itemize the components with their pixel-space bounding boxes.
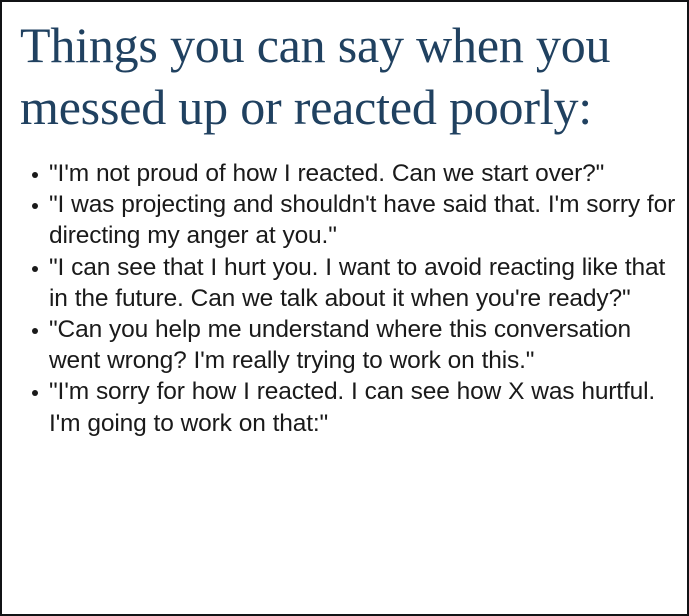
list-item-text: "I'm sorry for how I reacted. I can see … — [49, 376, 681, 438]
card-content: Things you can say when you messed up or… — [2, 2, 687, 439]
list-item-text: "I'm not proud of how I reacted. Can we … — [49, 158, 681, 189]
bullet-icon — [32, 203, 38, 209]
bullet-icon — [32, 328, 38, 334]
list-item: "I can see that I hurt you. I want to av… — [18, 252, 681, 314]
list-item-text: "I can see that I hurt you. I want to av… — [49, 252, 681, 314]
page-title: Things you can say when you messed up or… — [18, 14, 681, 138]
phrase-list: "I'm not proud of how I reacted. Can we … — [18, 158, 681, 439]
quote-card: Things you can say when you messed up or… — [0, 0, 689, 616]
list-item: "I was projecting and shouldn't have sai… — [18, 189, 681, 251]
bullet-icon — [32, 172, 38, 178]
list-item: "I'm not proud of how I reacted. Can we … — [18, 158, 681, 189]
bullet-icon — [32, 390, 38, 396]
list-item-text: "I was projecting and shouldn't have sai… — [49, 189, 681, 251]
list-item-text: "Can you help me understand where this c… — [49, 314, 681, 376]
list-item: "Can you help me understand where this c… — [18, 314, 681, 376]
bullet-icon — [32, 266, 38, 272]
list-item: "I'm sorry for how I reacted. I can see … — [18, 376, 681, 438]
